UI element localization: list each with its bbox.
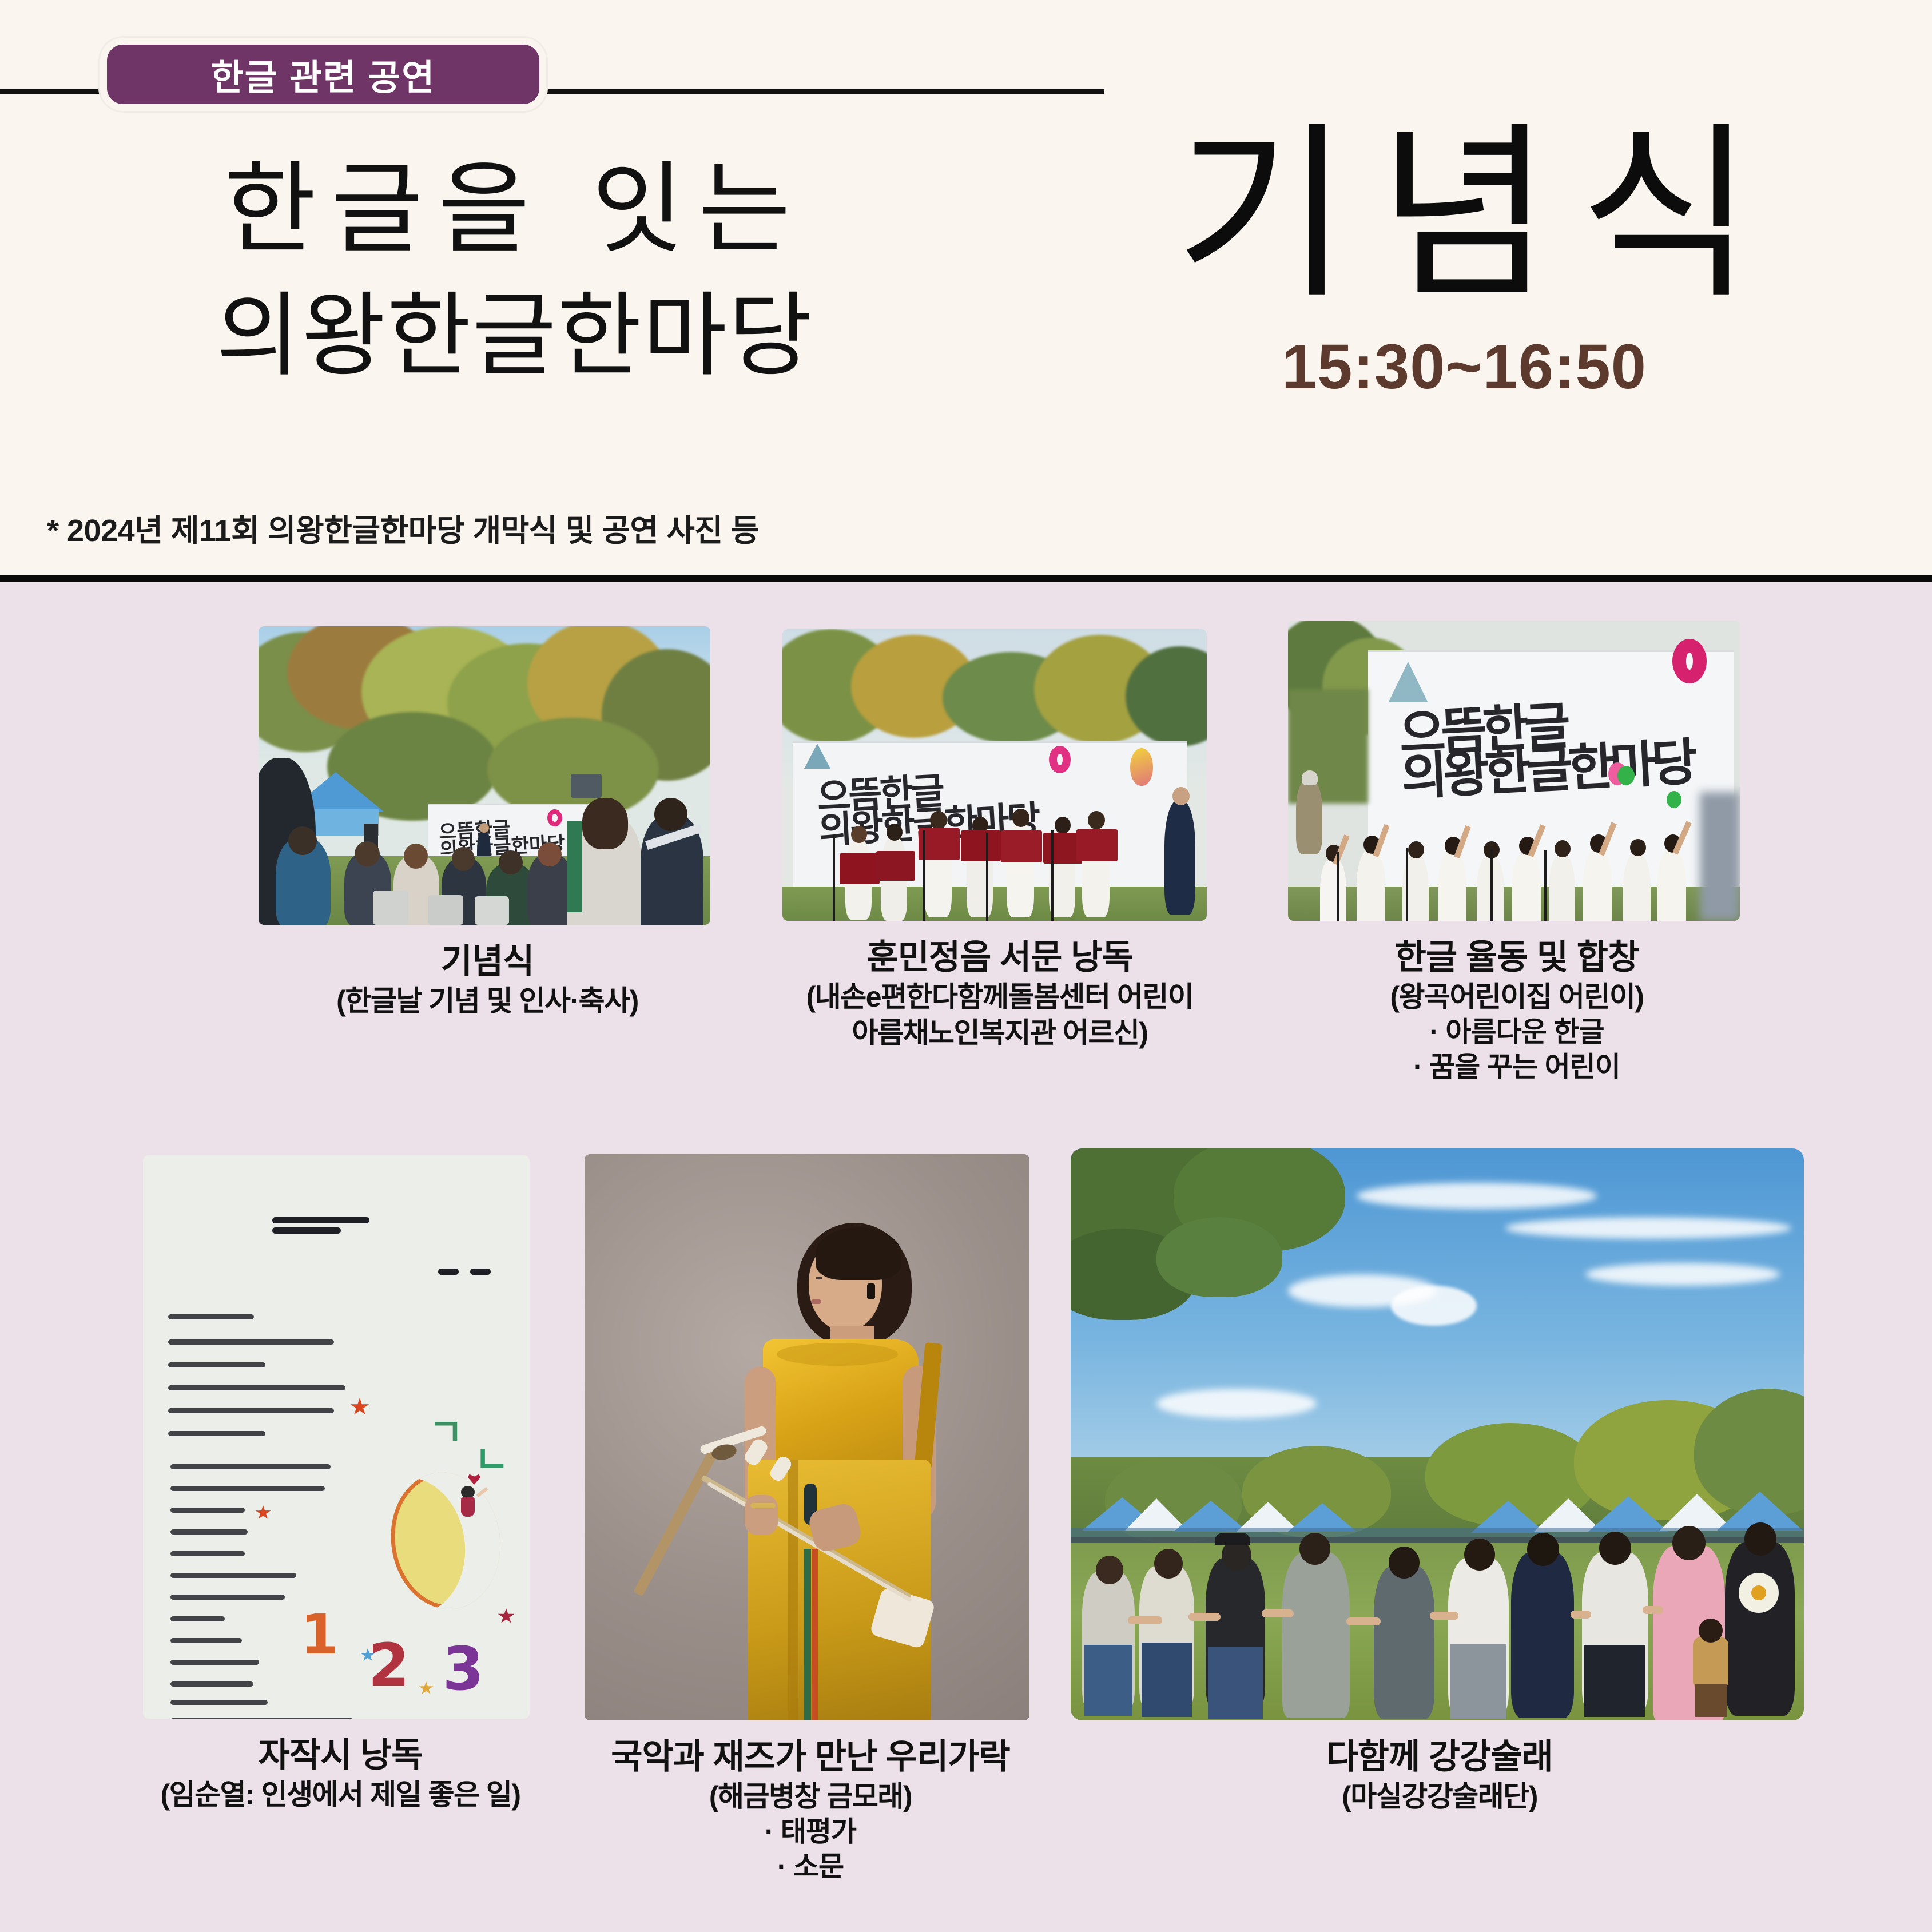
- program-subtitle-2: (내손e편한다함께돌봄센터 어린이: [782, 979, 1217, 1015]
- program-caption-2: 훈민정음 서문 낭독 (내손e편한다함께돌봄센터 어린이 아름채노인복지관 어르…: [782, 936, 1217, 1051]
- program-item-3-1: · 아름다운 한글: [1288, 1015, 1746, 1051]
- event-title-line-2: 의왕한글한마당: [0, 275, 1029, 396]
- program-caption-5: 국악과 재즈가 만난 우리가락 (해금병창 금모래) · 태평가 · 소문: [585, 1735, 1036, 1885]
- program-title-2: 훈민정음 서문 낭독: [782, 936, 1217, 979]
- program-caption-3: 한글 율동 및 합창 (왕곡어린이집 어린이) · 아름다운 한글 · 꿈을 꾸…: [1288, 936, 1746, 1086]
- program-photo-5: [585, 1154, 1029, 1720]
- program-title-4: 자작시 낭독: [143, 1734, 538, 1777]
- program-caption-6: 다함께 강강술래 (마실강강술래단): [1071, 1735, 1808, 1815]
- crayon-number-2: 2: [368, 1636, 410, 1695]
- program-photo-1: 으뜸한글의왕한글한마당: [259, 626, 710, 925]
- program-photo-6: [1071, 1148, 1804, 1720]
- program-card-2: 으뜸한글의왕한글한마당: [782, 629, 1217, 1051]
- program-card-3: 으뜸한글의왕한글한마당: [1288, 621, 1746, 1086]
- program-title-6: 다함께 강강술래: [1071, 1735, 1808, 1779]
- program-caption-1: 기념식 (한글날 기념 및 인사·축사): [259, 940, 716, 1019]
- section-badge: 한글 관련 공연: [100, 38, 546, 111]
- crayon-number-3: 3: [443, 1639, 484, 1699]
- program-card-4: ㄱ ㄴ 1 2 3 자작시 낭독 (임순열: 인생에서 제일 좋은 일): [143, 1155, 538, 1813]
- crayon-number-1: 1: [300, 1607, 339, 1662]
- program-subtitle-3: (왕곡어린이집 어린이): [1288, 979, 1746, 1015]
- program-subtitle-6: (마실강강술래단): [1071, 1779, 1808, 1815]
- program-card-5: 국악과 재즈가 만난 우리가락 (해금병창 금모래) · 태평가 · 소문: [585, 1154, 1036, 1885]
- program-subtitle-2b: 아름채노인복지관 어르신): [782, 1015, 1217, 1051]
- program-title-5: 국악과 재즈가 만난 우리가락: [585, 1735, 1036, 1779]
- headline-text: 기념식: [1047, 120, 1882, 309]
- header-section: 한글 관련 공연 한글을 잇는 의왕한글한마당 기념식 15:30~16:50 …: [0, 0, 1932, 575]
- program-item-5-2: · 소문: [585, 1850, 1036, 1885]
- program-title-1: 기념식: [259, 940, 716, 983]
- program-photo-2: 으뜸한글의왕한글한마당: [782, 629, 1207, 921]
- program-caption-4: 자작시 낭독 (임순열: 인생에서 제일 좋은 일): [143, 1734, 538, 1813]
- crayon-letter-2: ㄴ: [474, 1441, 509, 1479]
- event-time: 15:30~16:50: [1047, 331, 1882, 403]
- photo-credit-note: * 2024년 제11회 의왕한글한마당 개막식 및 공연 사진 등: [47, 505, 759, 550]
- section-divider: [0, 575, 1932, 582]
- program-subtitle-4: (임순열: 인생에서 제일 좋은 일): [143, 1777, 538, 1813]
- program-item-3-2: · 꿈을 꾸는 어린이: [1288, 1050, 1746, 1086]
- headline-block: 기념식 15:30~16:50: [1047, 120, 1882, 403]
- section-badge-label: 한글 관련 공연: [211, 49, 436, 100]
- program-subtitle-5: (해금병창 금모래): [585, 1779, 1036, 1815]
- event-title-block: 한글을 잇는 의왕한글한마당: [0, 146, 1029, 396]
- program-card-6: 다함께 강강술래 (마실강강술래단): [1071, 1148, 1808, 1815]
- program-subtitle-1: (한글날 기념 및 인사·축사): [259, 983, 716, 1019]
- program-title-3: 한글 율동 및 합창: [1288, 936, 1746, 979]
- program-photo-3: 으뜸한글의왕한글한마당: [1288, 621, 1740, 921]
- program-card-1: 으뜸한글의왕한글한마당: [259, 626, 716, 1019]
- poster-root: 한글 관련 공연 한글을 잇는 의왕한글한마당 기념식 15:30~16:50 …: [0, 0, 1932, 1932]
- program-photo-4: ㄱ ㄴ 1 2 3: [143, 1155, 530, 1719]
- event-title-line-1: 한글을 잇는: [0, 146, 1029, 274]
- crayon-letter-1: ㄱ: [428, 1414, 463, 1452]
- program-item-5-1: · 태평가: [585, 1815, 1036, 1850]
